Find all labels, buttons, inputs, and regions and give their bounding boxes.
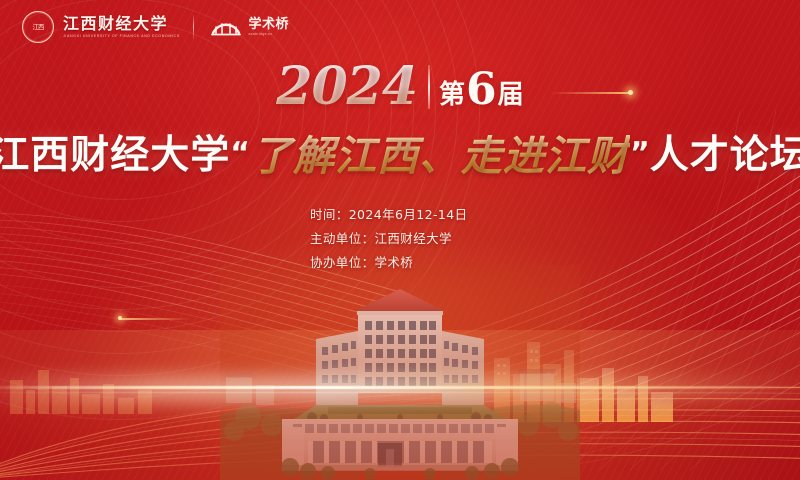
year-divider (428, 65, 430, 109)
year-edition-block: 2024 第 6 届 (0, 62, 800, 112)
headline-quote-open: “ (230, 139, 250, 169)
university-name-cn: 江西财经大学 (63, 15, 177, 32)
university-logo[interactable]: 江西 江西财经大学 JIANGXI UNIVERSITY OF FINANCE … (22, 11, 177, 43)
bridge-icon (211, 17, 241, 37)
event-info-block: 时间：2024年6月12-14日 主动单位：江西财经大学 协办单位：学术桥 (0, 208, 800, 270)
light-bar (0, 386, 800, 389)
edition-ordinal: 第 6 届 (439, 68, 524, 112)
headline-gold-phrase: 了解江西、走进江财 (250, 133, 630, 179)
university-name-en: JIANGXI UNIVERSITY OF FINANCE AND ECONOM… (63, 33, 180, 39)
year-text: 2024 (276, 62, 419, 112)
info-row-time: 时间：2024年6月12-14日 (310, 208, 490, 222)
headline-part1: 江西财经大学 (0, 133, 230, 179)
light-bar-thin (0, 392, 800, 393)
light-bar-glow (0, 376, 800, 402)
info-row-coorganizer: 协办单位：学术桥 (310, 256, 490, 270)
light-streak-left (120, 318, 190, 320)
ordinal-number: 6 (466, 68, 497, 112)
headline-quote-close: ” (630, 139, 650, 169)
university-seal-text: 江西 (32, 24, 43, 30)
headline-part2: 人才论坛 (650, 133, 800, 179)
university-seal-icon: 江西 (22, 11, 54, 43)
partner-logo[interactable]: 学术桥 acabridge.cn (211, 17, 289, 37)
partner-name-en: acabridge.cn (248, 32, 289, 37)
poster-canvas: 江西 江西财经大学 JIANGXI UNIVERSITY OF FINANCE … (0, 0, 800, 480)
header-logos: 江西 江西财经大学 JIANGXI UNIVERSITY OF FINANCE … (22, 11, 289, 43)
ordinal-suffix: 届 (498, 80, 524, 112)
ordinal-prefix: 第 (439, 80, 465, 112)
page-title: 江西财经大学 “ 了解江西、走进江财 ” 人才论坛 (0, 133, 800, 179)
campus-building-photo (220, 265, 580, 480)
partner-name-cn: 学术桥 (248, 18, 289, 32)
logo-divider (193, 14, 194, 40)
info-row-organizer: 主动单位：江西财经大学 (310, 232, 490, 246)
